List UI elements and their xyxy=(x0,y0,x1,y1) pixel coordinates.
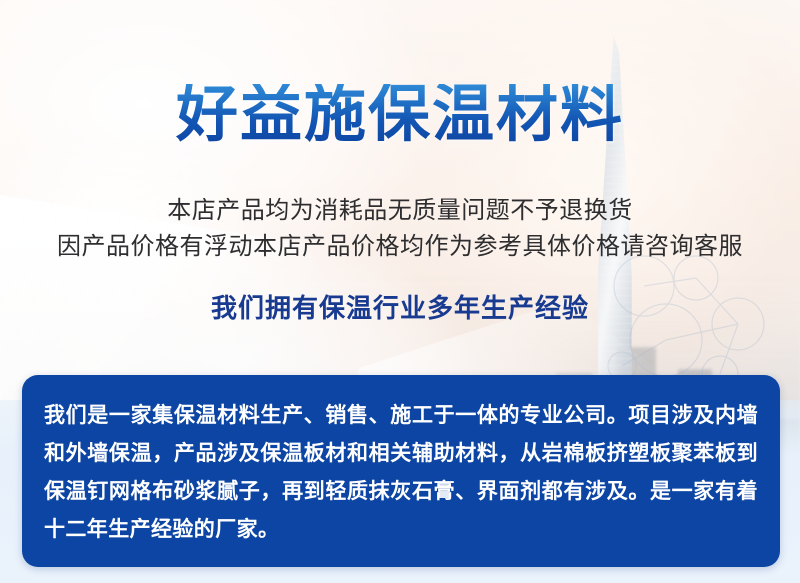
subtitle-line-2: 因产品价格有浮动本店产品价格均作为参考具体价格请咨询客服 xyxy=(0,232,800,263)
banner-content: 好益施保温材料 本店产品均为消耗品无质量问题不予退换货 因产品价格有浮动本店产品… xyxy=(0,0,800,583)
page-title: 好益施保温材料 xyxy=(0,84,800,146)
tagline: 我们拥有保温行业多年生产经验 xyxy=(0,288,800,325)
company-description-text: 我们是一家集保温材料生产、销售、施工于一体的专业公司。项目涉及内墙和外墙保温，产… xyxy=(44,397,758,549)
subtitle-line-1: 本店产品均为消耗品无质量问题不予退换货 xyxy=(0,196,800,227)
company-description-card: 我们是一家集保温材料生产、销售、施工于一体的专业公司。项目涉及内墙和外墙保温，产… xyxy=(22,375,780,567)
promo-banner: 好益施保温材料 本店产品均为消耗品无质量问题不予退换货 因产品价格有浮动本店产品… xyxy=(0,0,800,583)
